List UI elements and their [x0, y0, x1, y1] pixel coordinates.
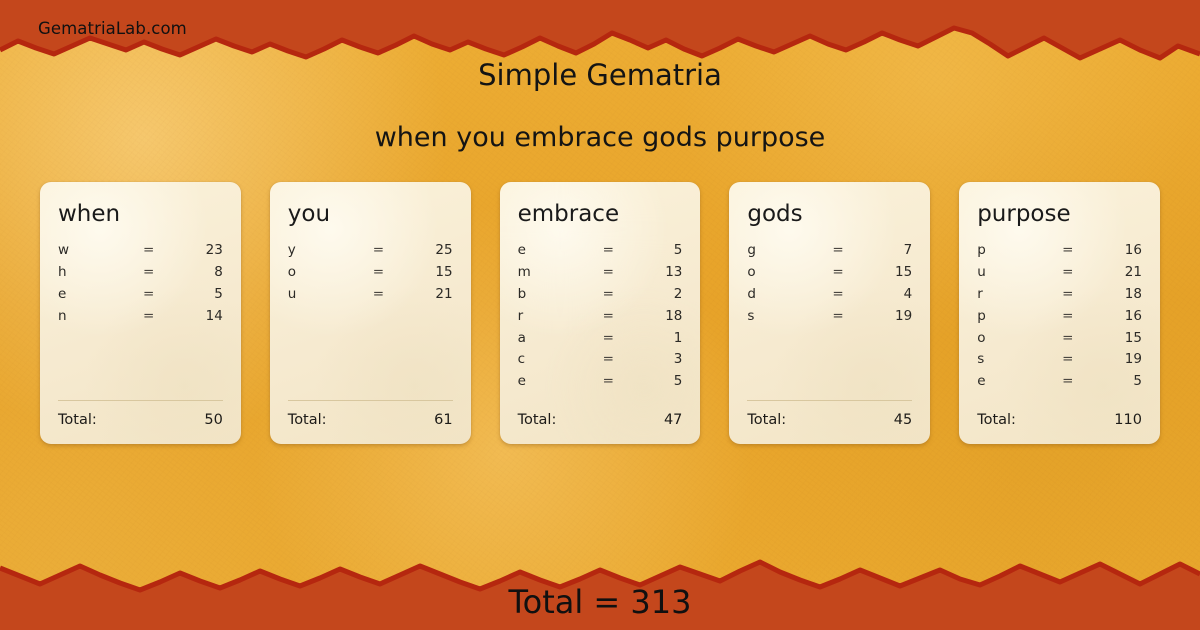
card-total-value: 61: [434, 412, 452, 428]
letter-value: 21: [1086, 262, 1142, 284]
equals-sign: =: [131, 240, 167, 262]
letter-label: e: [58, 284, 131, 306]
word-card: youy=25o=15u=21Total:61: [270, 182, 471, 444]
card-total-label: Total:: [518, 412, 664, 428]
letter-label: a: [518, 328, 591, 350]
equals-sign: =: [820, 306, 856, 328]
letter-value: 16: [1086, 306, 1142, 328]
letter-label: g: [747, 240, 820, 262]
letter-label: o: [747, 262, 820, 284]
card-total-row: Total:50: [58, 412, 223, 428]
letter-label: s: [977, 349, 1050, 371]
letter-value: 15: [397, 262, 453, 284]
card-divider: [288, 400, 453, 401]
card-total-label: Total:: [747, 412, 893, 428]
letter-value: 21: [397, 284, 453, 306]
equals-sign: =: [1050, 328, 1086, 350]
letter-value-row: b=2: [518, 284, 683, 306]
equals-sign: =: [1050, 349, 1086, 371]
letter-label: p: [977, 306, 1050, 328]
card-total-label: Total:: [288, 412, 434, 428]
letter-value: 16: [1086, 240, 1142, 262]
card-total-row: Total:61: [288, 412, 453, 428]
letter-value-row: n=14: [58, 306, 223, 328]
card-word-title: gods: [747, 202, 912, 226]
letter-value-row: m=13: [518, 262, 683, 284]
equals-sign: =: [360, 284, 396, 306]
equals-sign: =: [131, 262, 167, 284]
card-total-value: 110: [1114, 412, 1142, 428]
letter-value-row: y=25: [288, 240, 453, 262]
equals-sign: =: [590, 328, 626, 350]
letter-value: 25: [397, 240, 453, 262]
letter-value: 13: [626, 262, 682, 284]
card-total-value: 47: [664, 412, 682, 428]
site-logo[interactable]: GematriaLab.com: [38, 19, 187, 38]
poster-canvas: GematriaLab.com Simple Gematria when you…: [0, 0, 1200, 630]
letter-value: 5: [626, 240, 682, 262]
letter-value-row: s=19: [747, 306, 912, 328]
word-card: godsg=7o=15d=4s=19Total:45: [729, 182, 930, 444]
equals-sign: =: [820, 284, 856, 306]
letter-label: u: [288, 284, 361, 306]
equals-sign: =: [590, 371, 626, 393]
letter-value-list: y=25o=15u=21: [288, 240, 453, 392]
letter-value-row: d=4: [747, 284, 912, 306]
phrase-text: when you embrace gods purpose: [0, 122, 1200, 153]
card-total-row: Total:110: [977, 412, 1142, 428]
letter-value: 3: [626, 349, 682, 371]
letter-value-row: c=3: [518, 349, 683, 371]
letter-label: y: [288, 240, 361, 262]
letter-value-list: p=16u=21r=18p=16o=15s=19e=5: [977, 240, 1142, 393]
page-title: Simple Gematria: [0, 58, 1200, 92]
letter-value-row: u=21: [288, 284, 453, 306]
letter-value-list: w=23h=8e=5n=14: [58, 240, 223, 392]
letter-value-row: e=5: [518, 240, 683, 262]
equals-sign: =: [590, 306, 626, 328]
letter-value-row: a=1: [518, 328, 683, 350]
letter-value-row: u=21: [977, 262, 1142, 284]
card-word-title: embrace: [518, 202, 683, 226]
equals-sign: =: [590, 240, 626, 262]
letter-value: 5: [626, 371, 682, 393]
letter-label: m: [518, 262, 591, 284]
letter-label: r: [977, 284, 1050, 306]
letter-value-row: p=16: [977, 306, 1142, 328]
equals-sign: =: [1050, 371, 1086, 393]
equals-sign: =: [590, 349, 626, 371]
letter-value: 18: [626, 306, 682, 328]
letter-label: o: [288, 262, 361, 284]
letter-value: 7: [856, 240, 912, 262]
letter-label: p: [977, 240, 1050, 262]
letter-value-row: h=8: [58, 262, 223, 284]
letter-value-row: e=5: [58, 284, 223, 306]
letter-label: h: [58, 262, 131, 284]
letter-label: r: [518, 306, 591, 328]
card-total-row: Total:47: [518, 412, 683, 428]
letter-label: b: [518, 284, 591, 306]
letter-label: n: [58, 306, 131, 328]
word-card-list: whenw=23h=8e=5n=14Total:50youy=25o=15u=2…: [40, 182, 1160, 444]
letter-label: o: [977, 328, 1050, 350]
letter-value-list: g=7o=15d=4s=19: [747, 240, 912, 392]
equals-sign: =: [590, 262, 626, 284]
letter-label: c: [518, 349, 591, 371]
letter-value-row: e=5: [518, 371, 683, 393]
letter-value: 15: [856, 262, 912, 284]
letter-value: 18: [1086, 284, 1142, 306]
card-total-label: Total:: [977, 412, 1114, 428]
letter-value-row: o=15: [288, 262, 453, 284]
card-word-title: you: [288, 202, 453, 226]
letter-label: u: [977, 262, 1050, 284]
letter-value-row: o=15: [977, 328, 1142, 350]
letter-label: e: [977, 371, 1050, 393]
letter-label: w: [58, 240, 131, 262]
card-word-title: when: [58, 202, 223, 226]
letter-value: 5: [1086, 371, 1142, 393]
equals-sign: =: [820, 262, 856, 284]
letter-label: e: [518, 240, 591, 262]
letter-value: 1: [626, 328, 682, 350]
letter-value: 4: [856, 284, 912, 306]
letter-value: 23: [167, 240, 223, 262]
letter-value: 19: [1086, 349, 1142, 371]
equals-sign: =: [1050, 240, 1086, 262]
card-total-value: 50: [204, 412, 222, 428]
letter-value-list: e=5m=13b=2r=18a=1c=3e=5: [518, 240, 683, 393]
equals-sign: =: [1050, 262, 1086, 284]
letter-value-row: s=19: [977, 349, 1142, 371]
letter-value-row: r=18: [977, 284, 1142, 306]
card-total-value: 45: [894, 412, 912, 428]
equals-sign: =: [360, 240, 396, 262]
equals-sign: =: [1050, 306, 1086, 328]
letter-value: 2: [626, 284, 682, 306]
word-card: purposep=16u=21r=18p=16o=15s=19e=5Total:…: [959, 182, 1160, 444]
letter-value-row: w=23: [58, 240, 223, 262]
letter-value: 5: [167, 284, 223, 306]
letter-value-row: o=15: [747, 262, 912, 284]
letter-label: s: [747, 306, 820, 328]
word-card: embracee=5m=13b=2r=18a=1c=3e=5Total:47: [500, 182, 701, 444]
letter-label: e: [518, 371, 591, 393]
equals-sign: =: [1050, 284, 1086, 306]
letter-value-row: e=5: [977, 371, 1142, 393]
letter-value: 15: [1086, 328, 1142, 350]
letter-label: d: [747, 284, 820, 306]
card-total-row: Total:45: [747, 412, 912, 428]
equals-sign: =: [360, 262, 396, 284]
card-word-title: purpose: [977, 202, 1142, 226]
letter-value: 14: [167, 306, 223, 328]
card-divider: [58, 400, 223, 401]
card-total-label: Total:: [58, 412, 204, 428]
equals-sign: =: [131, 284, 167, 306]
grand-total: Total = 313: [0, 583, 1200, 621]
equals-sign: =: [820, 240, 856, 262]
letter-value-row: p=16: [977, 240, 1142, 262]
card-divider: [747, 400, 912, 401]
equals-sign: =: [590, 284, 626, 306]
letter-value: 19: [856, 306, 912, 328]
letter-value: 8: [167, 262, 223, 284]
letter-value-row: r=18: [518, 306, 683, 328]
equals-sign: =: [131, 306, 167, 328]
letter-value-row: g=7: [747, 240, 912, 262]
word-card: whenw=23h=8e=5n=14Total:50: [40, 182, 241, 444]
